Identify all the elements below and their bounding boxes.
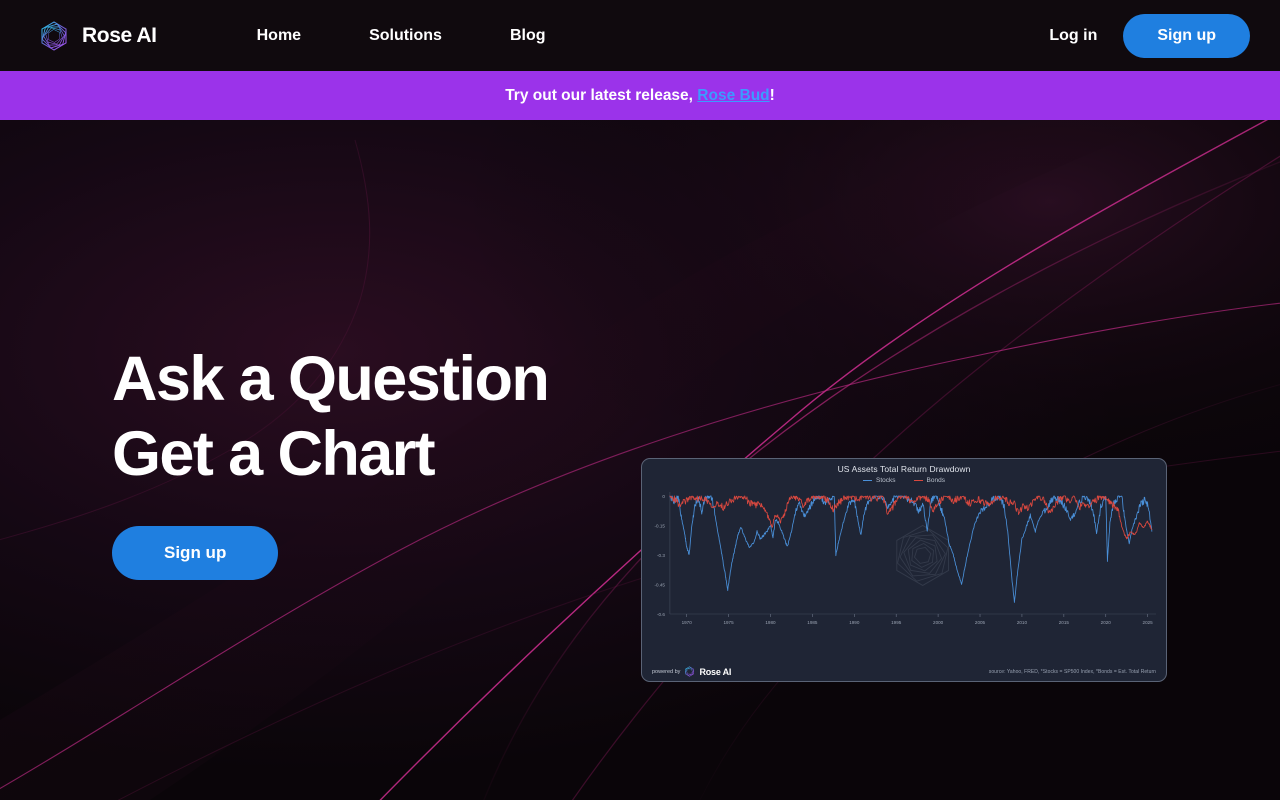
signup-button-hero[interactable]: Sign up <box>112 526 278 580</box>
brand-logo-link[interactable]: Rose AI <box>38 20 157 52</box>
signup-button-nav[interactable]: Sign up <box>1123 14 1250 58</box>
announcement-suffix: ! <box>770 87 775 104</box>
hero-section: Ask a Question Get a Chart Sign up US As… <box>0 120 1280 800</box>
nav-links: Home Solutions Blog <box>223 19 580 53</box>
nav-link-solutions[interactable]: Solutions <box>335 19 476 53</box>
announcement-text: Try out our latest release, Rose Bud! <box>505 87 775 105</box>
announcement-prefix: Try out our latest release, <box>505 87 697 104</box>
top-navigation-bar: Rose AI Home Solutions Blog Log in Sign … <box>0 0 1280 71</box>
nav-actions: Log in Sign up <box>1049 14 1250 58</box>
announcement-link-rose-bud[interactable]: Rose Bud <box>697 87 769 104</box>
hero-copy-block: Ask a Question Get a Chart Sign up <box>0 120 548 580</box>
brand-name: Rose AI <box>82 24 157 48</box>
login-link[interactable]: Log in <box>1049 27 1097 45</box>
nav-link-home[interactable]: Home <box>223 19 335 53</box>
rose-hexagon-logo-icon <box>38 20 70 52</box>
hero-title: Ask a Question Get a Chart <box>112 342 548 492</box>
announcement-banner: Try out our latest release, Rose Bud! <box>0 71 1280 120</box>
nav-link-blog[interactable]: Blog <box>476 19 580 53</box>
hero-content: Ask a Question Get a Chart Sign up <box>0 120 1280 800</box>
